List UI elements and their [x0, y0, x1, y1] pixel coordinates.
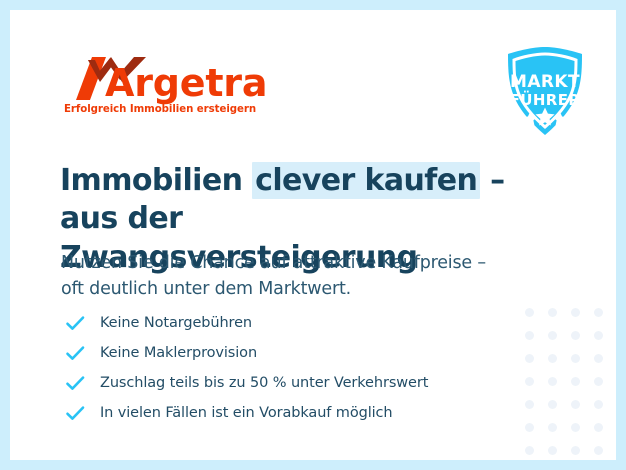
check-icon: [64, 402, 86, 424]
list-item-label: In vielen Fällen ist ein Vorabkauf mögli…: [100, 406, 393, 421]
argetra-logo[interactable]: Argetra Erfolgreich Immobilien ersteiger…: [62, 52, 262, 114]
decorative-dot: [548, 400, 557, 409]
badge-line-1: MARKT: [510, 72, 580, 92]
list-item: In vielen Fällen ist ein Vorabkauf mögli…: [64, 398, 534, 428]
check-icon: [64, 342, 86, 364]
shield-badge-icon: MARKT FÜHRER: [497, 43, 593, 139]
logo-wordmark: Argetra: [105, 64, 267, 102]
decorative-dot: [571, 377, 580, 386]
benefit-list: Keine NotargebührenKeine Maklerprovision…: [64, 308, 534, 428]
list-item-label: Keine Notargebühren: [100, 316, 252, 331]
list-item-label: Zuschlag teils bis zu 50 % unter Verkehr…: [100, 376, 428, 391]
check-icon: [64, 312, 86, 334]
outer-frame: Argetra Erfolgreich Immobilien ersteiger…: [0, 0, 626, 470]
badge-line-2: FÜHRER: [510, 90, 581, 109]
decorative-dot: [548, 423, 557, 432]
decorative-dot: [548, 331, 557, 340]
list-item: Keine Maklerprovision: [64, 338, 534, 368]
decorative-dot: [594, 400, 603, 409]
promo-card: Argetra Erfolgreich Immobilien ersteiger…: [10, 10, 616, 460]
decorative-dot: [594, 308, 603, 317]
decorative-dot: [571, 331, 580, 340]
decorative-dot: [548, 308, 557, 317]
decorative-dot: [525, 446, 534, 455]
headline-post: –: [480, 163, 504, 198]
decorative-dot: [594, 423, 603, 432]
decorative-dot: [571, 354, 580, 363]
decorative-dot: [594, 331, 603, 340]
decorative-dot: [571, 400, 580, 409]
subheadline-line-1: Nutzen Sie die Chance auf attraktive Kau…: [61, 253, 486, 273]
decorative-dot: [548, 377, 557, 386]
decorative-dot: [548, 354, 557, 363]
decorative-dot: [594, 354, 603, 363]
headline-line-1: Immobilien clever kaufen –: [60, 162, 505, 199]
decorative-dot: [594, 377, 603, 386]
decorative-dot: [571, 423, 580, 432]
markt-fuehrer-badge: MARKT FÜHRER: [497, 43, 593, 139]
check-icon: [64, 372, 86, 394]
decorative-dot: [571, 308, 580, 317]
list-item-label: Keine Maklerprovision: [100, 346, 257, 361]
list-item: Zuschlag teils bis zu 50 % unter Verkehr…: [64, 368, 534, 398]
decorative-dot-grid: [525, 308, 616, 458]
subheadline: Nutzen Sie die Chance auf attraktive Kau…: [61, 250, 541, 303]
list-item: Keine Notargebühren: [64, 308, 534, 338]
headline-pre: Immobilien: [60, 163, 252, 198]
logo-tagline: Erfolgreich Immobilien ersteigern: [64, 104, 256, 115]
decorative-dot: [548, 446, 557, 455]
headline-highlight: clever kaufen: [252, 162, 480, 199]
decorative-dot: [571, 446, 580, 455]
decorative-dot: [594, 446, 603, 455]
subheadline-line-2: oft deutlich unter dem Marktwert.: [61, 279, 351, 299]
